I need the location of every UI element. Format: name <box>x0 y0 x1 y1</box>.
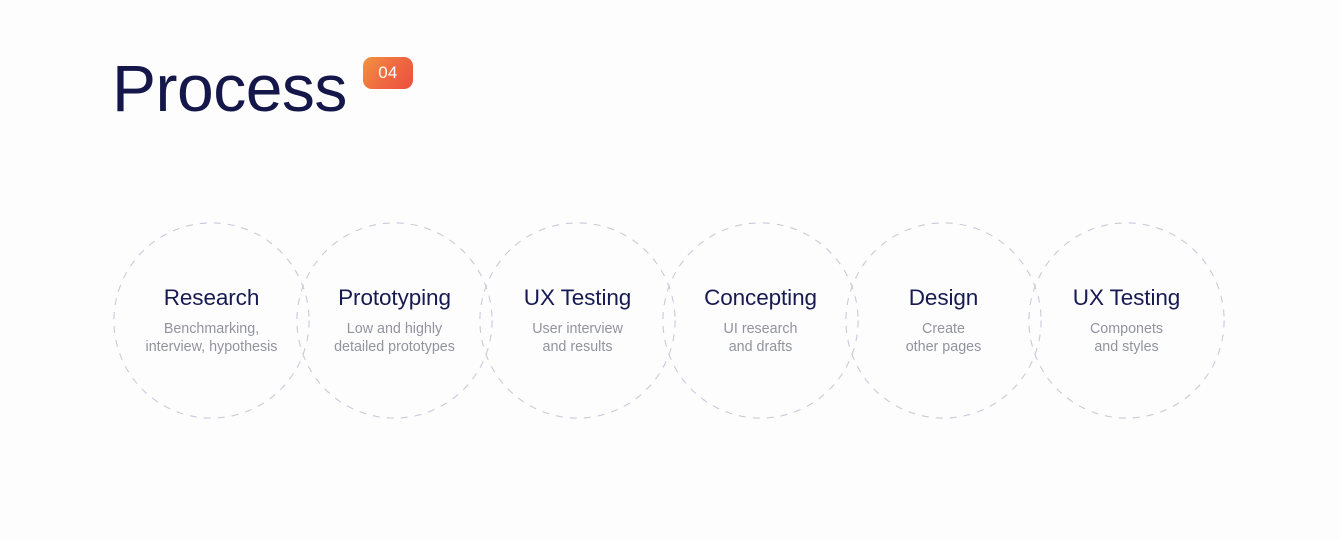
process-steps-row: Research Benchmarking, interview, hypoth… <box>0 222 1340 420</box>
page-header: Process 04 <box>112 52 413 124</box>
process-step-research[interactable]: Research Benchmarking, interview, hypoth… <box>113 222 310 419</box>
process-step-prototyping[interactable]: Prototyping Low and highly detailed prot… <box>296 222 493 419</box>
process-step-body: UX Testing User interview and results <box>520 285 635 356</box>
process-step-body: Research Benchmarking, interview, hypoth… <box>142 285 282 356</box>
process-step-description: Create other pages <box>906 320 982 356</box>
process-step-description: Low and highly detailed prototypes <box>334 320 455 356</box>
process-step-body: Design Create other pages <box>902 285 986 356</box>
process-step-description: UI research and drafts <box>704 320 817 356</box>
process-step-title: Prototyping <box>334 285 455 311</box>
process-step-design[interactable]: Design Create other pages <box>845 222 1042 419</box>
process-step-title: UX Testing <box>524 285 631 311</box>
process-step-title: Research <box>146 285 278 311</box>
process-step-title: UX Testing <box>1073 285 1180 311</box>
process-step-body: Prototyping Low and highly detailed prot… <box>330 285 459 356</box>
process-step-description: User interview and results <box>524 320 631 356</box>
section-number-badge: 04 <box>363 57 413 89</box>
process-step-title: Concepting <box>704 285 817 311</box>
process-step-description: Componets and styles <box>1073 320 1180 356</box>
process-step-concepting[interactable]: Concepting UI research and drafts <box>662 222 859 419</box>
process-step-body: UX Testing Componets and styles <box>1069 285 1184 356</box>
process-step-body: Concepting UI research and drafts <box>700 285 821 356</box>
process-step-ux-testing-2[interactable]: UX Testing Componets and styles <box>1028 222 1225 419</box>
page-title: Process <box>112 52 347 124</box>
process-step-description: Benchmarking, interview, hypothesis <box>146 320 278 356</box>
process-step-ux-testing-1[interactable]: UX Testing User interview and results <box>479 222 676 419</box>
process-step-title: Design <box>906 285 982 311</box>
